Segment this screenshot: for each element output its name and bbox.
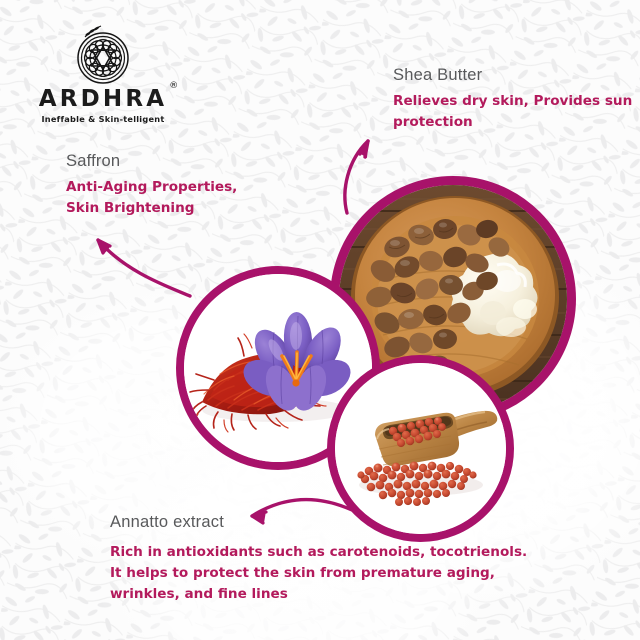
ingredient-title-shea-butter: Shea Butter: [393, 66, 633, 85]
ingredient-title-saffron: Saffron: [66, 152, 281, 171]
chakra-mandala-icon: [67, 24, 139, 86]
ingredient-title-annatto-extract: Annatto extract: [110, 513, 580, 532]
description-line: Rich in antioxidants such as carotenoids…: [110, 542, 580, 563]
callout-saffron: Saffron Anti-Aging Properties, Skin Brig…: [66, 152, 281, 219]
ingredient-infographic-poster: ARDHRA ® Ineffable & Skin-telligent: [0, 0, 640, 640]
description-line: Anti-Aging Properties,: [66, 177, 281, 198]
ingredient-description-annatto-extract: Rich in antioxidants such as carotenoids…: [110, 542, 580, 605]
ingredient-description-saffron: Anti-Aging Properties, Skin Brightening: [66, 177, 281, 219]
callout-annatto-extract: Annatto extract Rich in antioxidants suc…: [110, 513, 580, 605]
brand-tagline: Ineffable & Skin-telligent: [28, 114, 178, 124]
brand-logo: ARDHRA ® Ineffable & Skin-telligent: [28, 24, 178, 124]
callout-shea-butter: Shea Butter Relieves dry skin, Provides …: [393, 66, 633, 133]
ingredient-description-shea-butter: Relieves dry skin, Provides sun protecti…: [393, 91, 633, 133]
description-line: wrinkles, and fine lines: [110, 584, 580, 605]
description-line: It helps to protect the skin from premat…: [110, 563, 580, 584]
description-line: Skin Brightening: [66, 198, 281, 219]
registered-trademark-icon: ®: [169, 81, 178, 91]
description-line: protection: [393, 112, 633, 133]
brand-wordmark: ARDHRA: [39, 88, 168, 111]
description-line: Relieves dry skin, Provides sun: [393, 91, 633, 112]
